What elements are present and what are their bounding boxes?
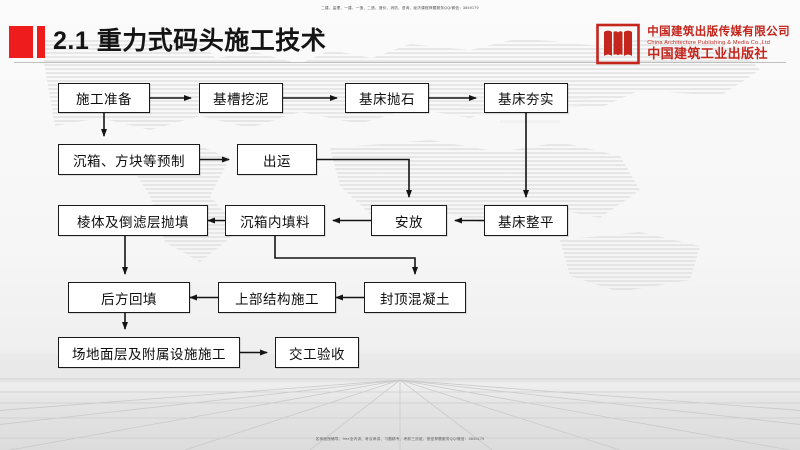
flow-node[interactable]: 交工验收 xyxy=(275,337,359,368)
flow-node[interactable]: 沉箱内填料 xyxy=(225,205,325,236)
flow-node[interactable]: 基床夯实 xyxy=(484,83,568,113)
flow-node[interactable]: 基槽挖泥 xyxy=(199,83,283,113)
flow-node[interactable]: 后方回填 xyxy=(68,282,190,313)
flow-node[interactable]: 封顶混凝土 xyxy=(364,282,466,313)
flow-node[interactable]: 出运 xyxy=(237,144,317,175)
flow-node[interactable]: 沉箱、方块等预制 xyxy=(58,144,200,175)
flow-node[interactable]: 基床抛石 xyxy=(345,83,429,113)
flow-node[interactable]: 安放 xyxy=(371,205,447,236)
micro-notice-bottom: 名师面授辅导、free全内训、考点串讲、习题精专、考前三页纸、绝密押题服务QQ/… xyxy=(0,436,800,442)
flow-node[interactable]: 场地面层及附属设施施工 xyxy=(58,337,240,368)
slide-canvas: 二建、监理、一建、一造、二造、造价、消防、咨询、经济课程押题服务QQ/微信：38… xyxy=(0,0,800,450)
flow-node[interactable]: 棱体及倒滤层抛填 xyxy=(58,205,208,236)
flow-node[interactable]: 基床整平 xyxy=(484,205,568,236)
flow-node[interactable]: 施工准备 xyxy=(58,83,150,113)
flow-node[interactable]: 上部结构施工 xyxy=(218,282,336,313)
